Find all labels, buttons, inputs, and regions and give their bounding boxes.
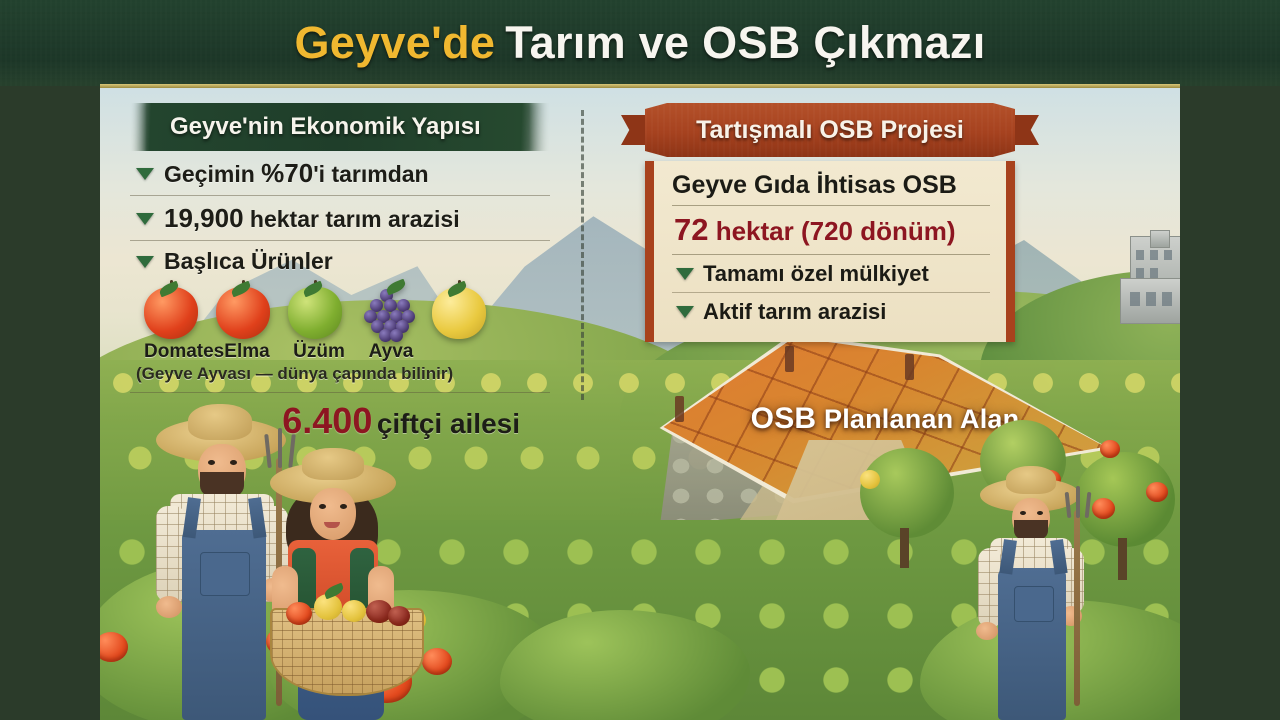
fence-post [785,346,794,372]
economy-bullet-2-text: 19,900 hektar tarım arazisi [164,203,460,234]
fruit-tree [860,448,954,538]
grapes-icon [360,287,414,339]
bullet-triangle-icon [136,256,154,268]
page-title: Geyve'de Tarım ve OSB Çıkmazı [0,0,1280,86]
farmer-woman [258,450,468,720]
osb-area-label-rest: Planlanan Alan [816,404,1019,434]
economy-bullet-2: 19,900 hektar tarım arazisi [130,196,550,241]
osb-area-label-lead: OSB [751,402,817,435]
osb-area-number: 72 [674,212,708,247]
bullet-triangle-icon [136,213,154,225]
quince-note: (Geyve Ayvası — dünya çapında bilinir) [130,363,550,384]
economy-bullet-1-text: Geçimin %70'i tarımdan [164,158,429,189]
osb-card: Geyve Gıda İhtisas OSB 72 hektar (720 dö… [645,161,1015,342]
quince-icon [432,287,486,339]
factory-buildings [1120,230,1180,340]
bullet-suffix: 'i tarımdan [313,161,428,187]
economy-panel-header: Geyve'nin Ekonomik Yapısı [130,103,550,151]
pitchfork-tine [1085,492,1092,518]
economy-bullet-3-text: Başlıca Ürünler [164,248,333,275]
hand-left [976,622,998,640]
tomato-fruit [1146,482,1168,502]
overall-pocket [200,552,250,596]
economy-bullet-3: Başlıca Ürünler [130,241,550,281]
osb-panel-title: Tartışmalı OSB Projesi [696,116,964,145]
osb-bullet-2: Aktif tarım arazisi [672,293,990,330]
gold-divider-line [100,84,1180,88]
pitchfork-tine [1076,486,1080,518]
tomato-icon [144,287,198,339]
osb-card-heading: Geyve Gıda İhtisas OSB [672,171,990,206]
economy-bullet-1: Geçimin %70'i tarımdan [130,151,550,196]
economy-panel-title: Geyve'nin Ekonomik Yapısı [170,113,481,141]
farmer-families-label: çiftçi ailesi [377,408,520,439]
green-apple-icon [288,287,342,339]
farmer-families-stat: 6.400 çiftçi ailesi [130,392,550,442]
title-highlight: Geyve'de [294,17,495,69]
bullet-prefix: Geçimin [164,161,261,187]
pitchfork-handle [1074,510,1080,706]
osb-panel: Tartışmalı OSB Projesi Geyve Gıda İhtisa… [645,103,1015,342]
infographic-root: OSB Planlanan Alan [0,0,1280,720]
farmer-man-right [970,470,1130,720]
eye [319,504,326,509]
apple-red-icon [216,287,270,339]
basket-fruit [388,606,410,626]
eye [340,504,347,509]
product-label-elma: Elma [216,341,278,363]
hat-crown [302,448,364,480]
product-label-uzum: Üzüm [288,341,350,363]
bullet-suffix: hektar tarım arazisi [244,206,460,232]
face [310,488,356,540]
hand-left [156,596,182,618]
product-icons-row [130,281,550,339]
eye [1037,511,1043,515]
osb-area-units: hektar (720 dönüm) [708,216,955,246]
osb-panel-ribbon: Tartışmalı OSB Projesi [645,103,1015,157]
basket-fruit [286,602,312,625]
osb-bullet-2-text: Aktif tarım arazisi [703,299,886,325]
tree-trunk [900,528,909,568]
osb-bullet-1-text: Tamamı özel mülkiyet [703,261,929,287]
title-main: Tarım ve OSB Çıkmazı [505,17,985,69]
product-label-domates: Domates [144,341,206,363]
basket-fruit [342,600,366,622]
quince-fruit [860,470,880,489]
economy-panel: Geyve'nin Ekonomik Yapısı Geçimin %70'i … [130,103,550,442]
overall-pocket [1014,586,1054,622]
osb-bullet-1: Tamamı özel mülkiyet [672,255,990,293]
product-label-ayva: Ayva [360,341,422,363]
bullet-emphasis: %70 [261,158,313,188]
eye [1020,511,1026,515]
bullet-triangle-icon [676,306,694,318]
hat-crown [1006,466,1056,494]
bullet-triangle-icon [676,268,694,280]
farmer-families-number: 6.400 [282,400,372,441]
eye [230,460,237,465]
osb-area-stat: 72 hektar (720 dönüm) [672,206,990,255]
fence-post [905,354,914,380]
panel-divider [581,110,584,400]
product-labels-row: Domates Elma Üzüm Ayva [130,339,550,363]
tomato-fruit [1100,440,1120,458]
eye [208,460,215,465]
bullet-emphasis: 19,900 [164,203,244,233]
bullet-triangle-icon [136,168,154,180]
